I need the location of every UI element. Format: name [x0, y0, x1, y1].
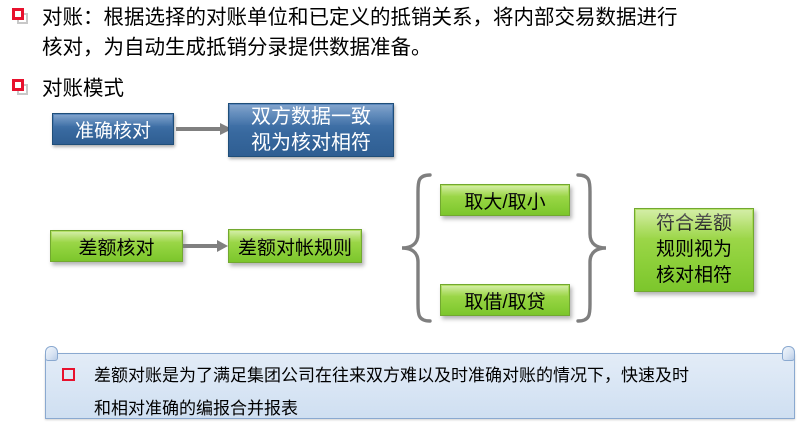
right-brace-icon — [576, 172, 610, 324]
diagram-node-variance-rule[interactable]: 差额对帐规则 — [228, 229, 362, 263]
paragraph-reconciliation-mode: 对账模式 — [42, 74, 342, 104]
diagram-node-both-sides-consistent[interactable]: 双方数据一致 视为核对相符 — [228, 103, 394, 157]
diagram-node-debit-credit-rule[interactable]: 取借/取贷 — [440, 284, 570, 316]
square-outline-icon — [12, 79, 24, 91]
note-bullet-icon — [62, 368, 75, 381]
arrow-exact-to-consistent — [176, 122, 232, 136]
bullet-icon-reconciliation-definition — [12, 8, 30, 26]
diagram-node-variance-conclusion[interactable]: 符合差额 规则视为 核对相符 — [634, 208, 754, 292]
diagram-node-variance-match[interactable]: 差额核对 — [50, 230, 183, 262]
note-callout: 差额对账是为了满足集团公司在往来双方难以及时准确对账的情况下，快速及时 和相对准… — [45, 353, 795, 419]
diagram-node-max-min-rule[interactable]: 取大/取小 — [440, 184, 570, 216]
diagram-node-exact-match[interactable]: 准确核对 — [52, 113, 174, 145]
left-brace-icon — [398, 172, 432, 324]
note-corner-curl-left-icon — [45, 346, 58, 361]
arrow-variance-to-rule — [183, 239, 228, 253]
note-text: 差额对账是为了满足集团公司在往来双方难以及时准确对账的情况下，快速及时 和相对准… — [94, 359, 784, 425]
square-outline-icon — [12, 8, 24, 20]
paragraph-reconciliation-definition: 对账：根据选择的对账单位和已定义的抵销关系，将内部交易数据进行 核对，为自动生成… — [42, 3, 792, 63]
bullet-icon-reconciliation-mode — [12, 79, 30, 97]
